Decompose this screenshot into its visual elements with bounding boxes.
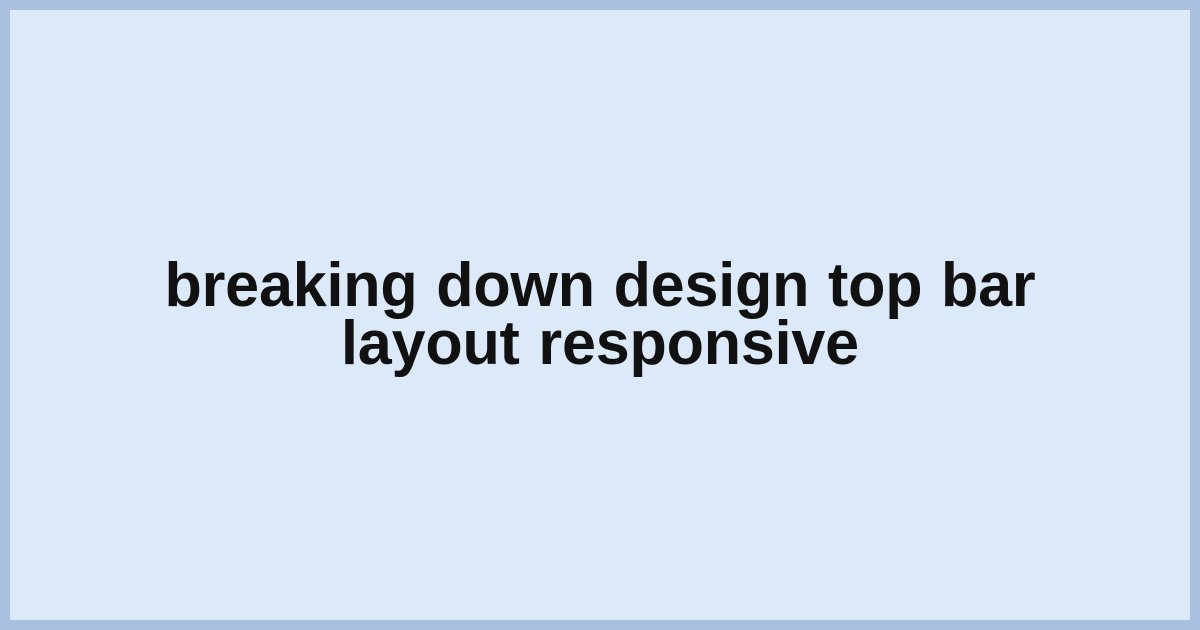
- page-title: breaking down design top bar layout resp…: [103, 257, 1098, 373]
- title-block: breaking down design top bar layout resp…: [85, 257, 1115, 373]
- open-graph-card: breaking down design top bar layout resp…: [0, 0, 1200, 630]
- card-canvas: breaking down design top bar layout resp…: [10, 10, 1190, 620]
